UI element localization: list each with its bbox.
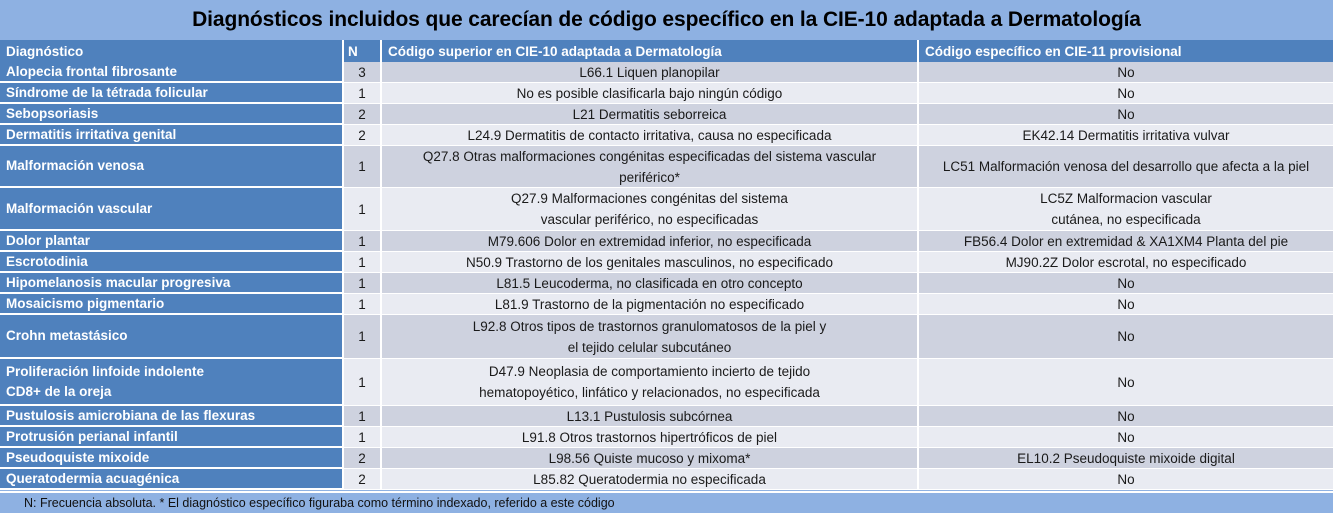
cell-text-line: M79.606 Dolor en extremidad inferior, no… [488,231,811,252]
cell-cie11: No [919,83,1333,104]
cell-text-line: No [1117,406,1134,427]
cell-text-line: No [1117,104,1134,125]
cell-cie10: L81.9 Trastorno de la pigmentación no es… [382,294,919,315]
cell-n: 1 [344,252,382,273]
cell-cie11: No [919,406,1333,427]
cell-text-line: L13.1 Pustulosis subcórnea [567,406,733,427]
cell-text-line: Dolor plantar [6,231,90,251]
cell-n: 1 [344,294,382,315]
cell-text-line: 1 [358,375,366,390]
cell-n: 1 [344,83,382,104]
cell-text-line: 1 [358,255,366,270]
table-row: Dolor plantar1M79.606 Dolor en extremida… [0,231,1333,252]
cell-text-line: No [1117,469,1134,490]
cell-cie11: No [919,104,1333,125]
table-row: Queratodermia acuagénica2L85.82 Queratod… [0,469,1333,490]
column-header-n: N [344,40,382,62]
cell-n: 1 [344,406,382,427]
cell-cie11: No [919,294,1333,315]
table-row: Sebopsoriasis2L21 Dermatitis seborreicaN… [0,104,1333,125]
cell-diagnostico: Crohn metastásico [0,315,344,359]
table-row: Alopecia frontal fibrosante3L66.1 Liquen… [0,62,1333,83]
cell-text-line: Proliferación linfoide indolente [6,362,204,382]
cell-diagnostico: Protrusión perianal infantil [0,427,344,448]
table-row: Protrusión perianal infantil1L91.8 Otros… [0,427,1333,448]
cell-text-line: Escrotodinia [6,252,88,272]
cell-n: 1 [344,427,382,448]
cell-text-line: Queratodermia acuagénica [6,469,179,489]
cell-cie11: No [919,273,1333,294]
cell-n: 1 [344,359,382,406]
cell-text-line: L81.9 Trastorno de la pigmentación no es… [495,294,804,315]
cell-text-line: LC51 Malformación venosa del desarrollo … [943,156,1309,177]
page-title: Diagnósticos incluidos que carecían de c… [192,8,1141,32]
cell-text-line: Q27.8 Otras malformaciones congénitas es… [423,146,876,167]
cell-cie11: No [919,469,1333,490]
column-header-cie10: Código superior en CIE-10 adaptada a Der… [382,40,919,62]
cell-diagnostico: Alopecia frontal fibrosante [0,62,344,83]
cell-n: 2 [344,104,382,125]
cell-text-line: MJ90.2Z Dolor escrotal, no especificado [1006,252,1247,273]
cell-cie11: MJ90.2Z Dolor escrotal, no especificado [919,252,1333,273]
cell-diagnostico: Proliferación linfoide indolente CD8+ de… [0,359,344,406]
cell-text-line: Hipomelanosis macular progresiva [6,273,230,293]
cell-text-line: 2 [358,451,366,466]
cell-n: 3 [344,62,382,83]
cell-cie10: L13.1 Pustulosis subcórnea [382,406,919,427]
table-figure: Diagnósticos incluidos que carecían de c… [0,0,1333,513]
cell-text-line: Q27.9 Malformaciones congénitas del sist… [511,188,788,209]
cell-n: 2 [344,448,382,469]
cell-cie10: L91.8 Otros trastornos hipertróficos de … [382,427,919,448]
cell-text-line: L98.56 Quiste mucoso y mixoma* [549,448,751,469]
figure-title-band: Diagnósticos incluidos que carecían de c… [0,0,1333,40]
cell-n: 1 [344,146,382,188]
cell-text-line: CD8+ de la oreja [6,382,204,402]
cell-text-line: L92.8 Otros tipos de trastornos granulom… [473,316,826,337]
table-row: Hipomelanosis macular progresiva1L81.5 L… [0,273,1333,294]
cell-diagnostico: Queratodermia acuagénica [0,469,344,490]
cell-cie11: No [919,427,1333,448]
cell-text-line: 1 [358,409,366,424]
cell-text-line: 1 [358,234,366,249]
cell-diagnostico: Dermatitis irritativa genital [0,125,344,146]
cell-text-line: EK42.14 Dermatitis irritativa vulvar [1022,125,1229,146]
cell-text-line: el tejido celular subcutáneo [568,337,732,358]
cell-cie10: L66.1 Liquen planopilar [382,62,919,83]
cell-cie10: D47.9 Neoplasia de comportamiento incier… [382,359,919,406]
table-row: Dermatitis irritativa genital2L24.9 Derm… [0,125,1333,146]
cell-text-line: No [1117,83,1134,104]
table-row: Malformación vascular1Q27.9 Malformacion… [0,188,1333,231]
cell-text-line: 1 [358,430,366,445]
cell-diagnostico: Pustulosis amicrobiana de las flexuras [0,406,344,427]
cell-cie11: LC5Z Malformacion vascularcutánea, no es… [919,188,1333,231]
cell-text-line: L24.9 Dermatitis de contacto irritativa,… [468,125,832,146]
cell-text-line: D47.9 Neoplasia de comportamiento incier… [489,361,810,382]
cell-text-line: Pustulosis amicrobiana de las flexuras [6,406,255,426]
cell-cie11: No [919,359,1333,406]
table-row: Pustulosis amicrobiana de las flexuras1L… [0,406,1333,427]
cell-text-line: N50.9 Trastorno de los genitales masculi… [466,252,833,273]
table-row: Crohn metastásico1L92.8 Otros tipos de t… [0,315,1333,359]
figure-footnote-band: N: Frecuencia absoluta. * El diagnóstico… [0,491,1333,513]
table-row: Escrotodinia1N50.9 Trastorno de los geni… [0,252,1333,273]
cell-text-line: Malformación venosa [6,156,144,176]
cell-text-line: FB56.4 Dolor en extremidad & XA1XM4 Plan… [964,231,1288,252]
data-table: Diagnóstico N Código superior en CIE-10 … [0,40,1333,491]
cell-text-line: Mosaicismo pigmentario [6,294,164,314]
cell-text-line: 1 [358,159,366,174]
column-header-cie11: Código específico en CIE-11 provisional [919,40,1333,62]
cell-cie10: Q27.9 Malformaciones congénitas del sist… [382,188,919,231]
cell-text-line: No [1117,62,1134,83]
table-row: Malformación venosa1Q27.8 Otras malforma… [0,146,1333,188]
cell-text-line: EL10.2 Pseudoquiste mixoide digital [1017,448,1235,469]
cell-diagnostico: Síndrome de la tétrada folicular [0,83,344,104]
cell-text-line: L81.5 Leucoderma, no clasificada en otro… [496,273,802,294]
cell-diagnostico: Hipomelanosis macular progresiva [0,273,344,294]
cell-cie11: EK42.14 Dermatitis irritativa vulvar [919,125,1333,146]
cell-text-line: vascular periférico, no especificadas [541,209,759,230]
cell-text-line: periférico* [619,167,680,188]
cell-text-line: Malformación vascular [6,199,152,219]
cell-cie10: N50.9 Trastorno de los genitales masculi… [382,252,919,273]
cell-diagnostico: Malformación vascular [0,188,344,231]
cell-text-line: Dermatitis irritativa genital [6,125,176,145]
footnote-text: N: Frecuencia absoluta. * El diagnóstico… [24,496,615,510]
cell-text-line: cutánea, no especificada [1051,209,1200,230]
cell-text-line: Síndrome de la tétrada folicular [6,83,208,103]
cell-n: 2 [344,469,382,490]
cell-text-line: LC5Z Malformacion vascular [1040,188,1212,209]
cell-cie10: L81.5 Leucoderma, no clasificada en otro… [382,273,919,294]
cell-diagnostico: Mosaicismo pigmentario [0,294,344,315]
cell-cie11: No [919,62,1333,83]
table-row: Síndrome de la tétrada folicular1No es p… [0,83,1333,104]
cell-cie10: M79.606 Dolor en extremidad inferior, no… [382,231,919,252]
cell-text-line: L85.82 Queratodermia no especificada [533,469,766,490]
cell-cie10: Q27.8 Otras malformaciones congénitas es… [382,146,919,188]
cell-cie10: L24.9 Dermatitis de contacto irritativa,… [382,125,919,146]
cell-text-line: 1 [358,329,366,344]
cell-text-line: No [1117,326,1134,347]
cell-text-line: 3 [358,65,366,80]
cell-text-line: 1 [358,297,366,312]
cell-text-line: No [1117,294,1134,315]
column-header-diagnostico: Diagnóstico [0,40,344,62]
table-row: Pseudoquiste mixoide2L98.56 Quiste mucos… [0,448,1333,469]
cell-n: 1 [344,188,382,231]
cell-diagnostico: Pseudoquiste mixoide [0,448,344,469]
cell-text-line: 1 [358,202,366,217]
cell-text-line: 1 [358,86,366,101]
cell-text-line: Pseudoquiste mixoide [6,448,149,468]
cell-n: 2 [344,125,382,146]
cell-text-line: Protrusión perianal infantil [6,427,178,447]
cell-text-line: No [1117,372,1134,393]
cell-cie10: L92.8 Otros tipos de trastornos granulom… [382,315,919,359]
table-row: Mosaicismo pigmentario1L81.9 Trastorno d… [0,294,1333,315]
cell-cie11: FB56.4 Dolor en extremidad & XA1XM4 Plan… [919,231,1333,252]
cell-cie10: L98.56 Quiste mucoso y mixoma* [382,448,919,469]
cell-text-line: 2 [358,128,366,143]
cell-diagnostico: Escrotodinia [0,252,344,273]
cell-cie10: No es posible clasificarla bajo ningún c… [382,83,919,104]
cell-text-line: Crohn metastásico [6,326,128,346]
cell-text-line: No es posible clasificarla bajo ningún c… [517,83,783,104]
cell-text-line: L66.1 Liquen planopilar [579,62,719,83]
table-row: Proliferación linfoide indolente CD8+ de… [0,359,1333,406]
cell-text-line: 2 [358,472,366,487]
cell-n: 1 [344,273,382,294]
cell-text-line: 2 [358,107,366,122]
cell-text-line: No [1117,273,1134,294]
cell-text-line: 1 [358,276,366,291]
cell-text-line: L21 Dermatitis seborreica [573,104,727,125]
table-header-row: Diagnóstico N Código superior en CIE-10 … [0,40,1333,62]
cell-n: 1 [344,315,382,359]
cell-text-line: Sebopsoriasis [6,104,98,124]
cell-cie11: No [919,315,1333,359]
cell-cie11: LC51 Malformación venosa del desarrollo … [919,146,1333,188]
cell-diagnostico: Dolor plantar [0,231,344,252]
cell-diagnostico: Sebopsoriasis [0,104,344,125]
cell-text-line: L91.8 Otros trastornos hipertróficos de … [522,427,777,448]
cell-cie10: L85.82 Queratodermia no especificada [382,469,919,490]
cell-text-line: hematopoyético, linfático y relacionados… [479,382,820,403]
cell-text-line: Alopecia frontal fibrosante [6,62,177,82]
cell-n: 1 [344,231,382,252]
cell-cie11: EL10.2 Pseudoquiste mixoide digital [919,448,1333,469]
cell-cie10: L21 Dermatitis seborreica [382,104,919,125]
cell-text-line: No [1117,427,1134,448]
cell-diagnostico: Malformación venosa [0,146,344,188]
table-body: Alopecia frontal fibrosante3L66.1 Liquen… [0,62,1333,490]
